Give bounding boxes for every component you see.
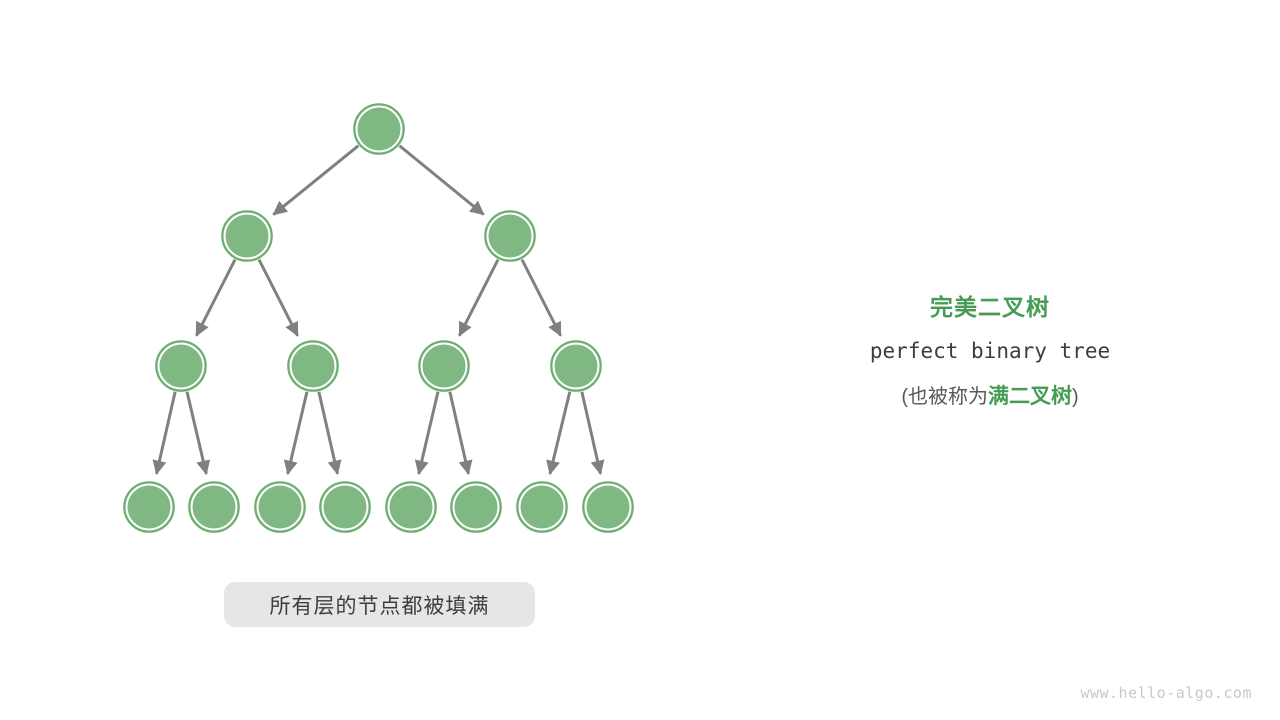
- tree-edge-layer: [157, 146, 601, 474]
- tree-node: [222, 211, 272, 261]
- tree-node: [124, 482, 174, 532]
- tree-node-body: [455, 486, 498, 529]
- caption-alt-highlight: 满二叉树: [988, 385, 1072, 408]
- tree-node-body: [587, 486, 630, 529]
- tree-edge: [288, 392, 307, 474]
- caption-alt-suffix: ): [1072, 386, 1079, 408]
- note-badge: 所有层的节点都被填满: [224, 582, 535, 627]
- tree-node-body: [193, 486, 236, 529]
- caption-title-en: perfect binary tree: [790, 336, 1190, 366]
- tree-node-body: [390, 486, 433, 529]
- tree-node-body: [423, 345, 466, 388]
- tree-node-body: [226, 215, 269, 258]
- tree-node-body: [358, 108, 401, 151]
- tree-node: [189, 482, 239, 532]
- tree-node: [156, 341, 206, 391]
- tree-node: [551, 341, 601, 391]
- tree-node: [451, 482, 501, 532]
- watermark: www.hello-algo.com: [1080, 684, 1252, 702]
- tree-node-body: [160, 345, 203, 388]
- caption-block: 完美二叉树 perfect binary tree (也被称为满二叉树): [790, 292, 1190, 412]
- tree-node: [485, 211, 535, 261]
- tree-edge: [187, 392, 206, 474]
- tree-edge: [459, 260, 498, 336]
- tree-node-body: [128, 486, 171, 529]
- tree-edge: [450, 392, 469, 474]
- tree-node: [354, 104, 404, 154]
- tree-node-body: [489, 215, 532, 258]
- tree-edge: [319, 392, 338, 474]
- tree-node: [386, 482, 436, 532]
- tree-node: [583, 482, 633, 532]
- tree-edge: [157, 392, 176, 474]
- caption-alt-name: (也被称为满二叉树): [790, 382, 1190, 412]
- tree-edge: [196, 260, 235, 336]
- tree-node-body: [555, 345, 598, 388]
- tree-edge: [522, 260, 561, 336]
- tree-edge: [400, 146, 484, 215]
- note-badge-text: 所有层的节点都被填满: [270, 590, 490, 620]
- tree-node: [288, 341, 338, 391]
- tree-node-layer: [124, 104, 633, 532]
- tree-node-body: [324, 486, 367, 529]
- tree-edge: [273, 146, 358, 215]
- tree-node-body: [259, 486, 302, 529]
- tree-node-body: [521, 486, 564, 529]
- tree-edge: [259, 260, 298, 336]
- tree-node: [320, 482, 370, 532]
- tree-edge: [582, 392, 601, 474]
- caption-title-cn: 完美二叉树: [790, 292, 1190, 322]
- tree-node: [255, 482, 305, 532]
- tree-node: [517, 482, 567, 532]
- tree-edge: [550, 392, 570, 474]
- tree-node-body: [292, 345, 335, 388]
- tree-node: [419, 341, 469, 391]
- tree-edge: [419, 392, 438, 474]
- caption-alt-prefix: (也被称为: [901, 386, 988, 408]
